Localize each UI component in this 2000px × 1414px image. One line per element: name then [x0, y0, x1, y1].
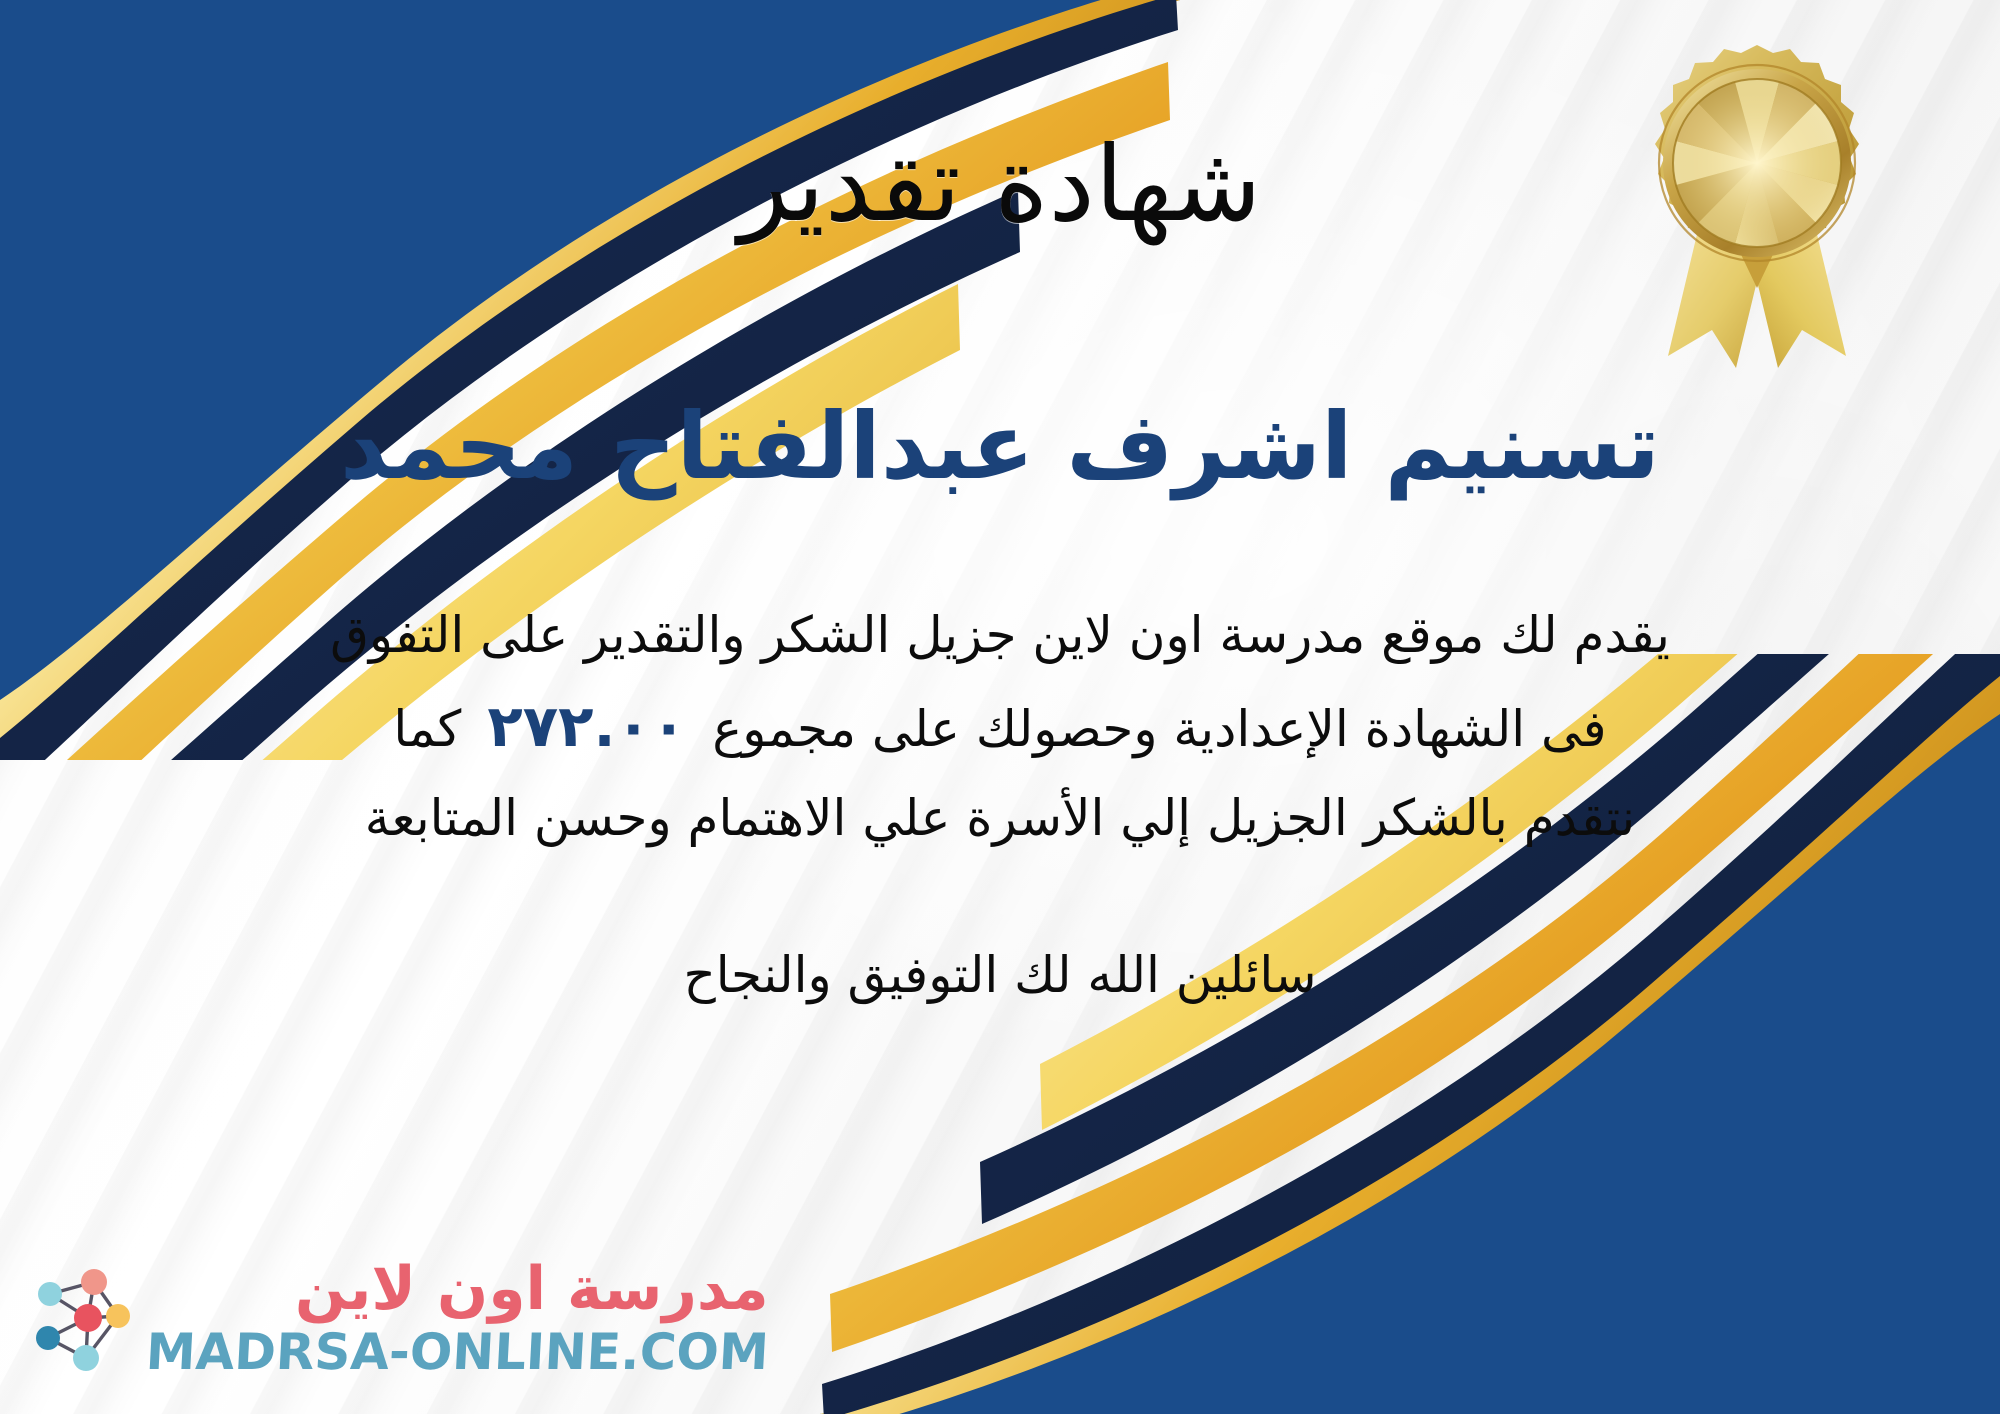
recipient-name: تسنيم اشرف عبدالفتاح محمد	[340, 392, 1660, 502]
certificate-canvas: شهادة تقدير تسنيم اشرف عبدالفتاح محمد يق…	[0, 0, 2000, 1414]
network-nodes-icon	[28, 1264, 132, 1376]
body-line-1: يقدم لك موقع مدرسة اون لاين جزيل الشكر و…	[60, 599, 1940, 671]
total-score-value: ٢٧٢.٠٠	[461, 692, 712, 760]
gold-rosette-medal-icon	[1632, 38, 1882, 368]
brand-text-block: مدرسة اون لاين MADRSA-ONLINE.COM	[146, 1259, 769, 1380]
body-line-3: نتقدم بالشكر الجزيل إلي الأسرة علي الاهت…	[60, 782, 1940, 854]
certificate-body: يقدم لك موقع مدرسة اون لاين جزيل الشكر و…	[60, 599, 1940, 855]
brand-website-url[interactable]: MADRSA-ONLINE.COM	[145, 1325, 771, 1380]
body-line-2-prefix: فى الشهادة الإعدادية وحصولك على مجموع	[712, 700, 1606, 758]
certificate-title: شهادة تقدير	[738, 126, 1261, 242]
body-line-2: فى الشهادة الإعدادية وحصولك على مجموع٢٧٢…	[60, 685, 1940, 769]
brand-arabic-name: مدرسة اون لاين	[295, 1259, 769, 1319]
closing-wish: سائلين الله لك التوفيق والنجاح	[683, 946, 1316, 1004]
brand-logo[interactable]: مدرسة اون لاين MADRSA-ONLINE.COM	[28, 1259, 769, 1380]
body-line-2-suffix: كما	[393, 700, 461, 758]
